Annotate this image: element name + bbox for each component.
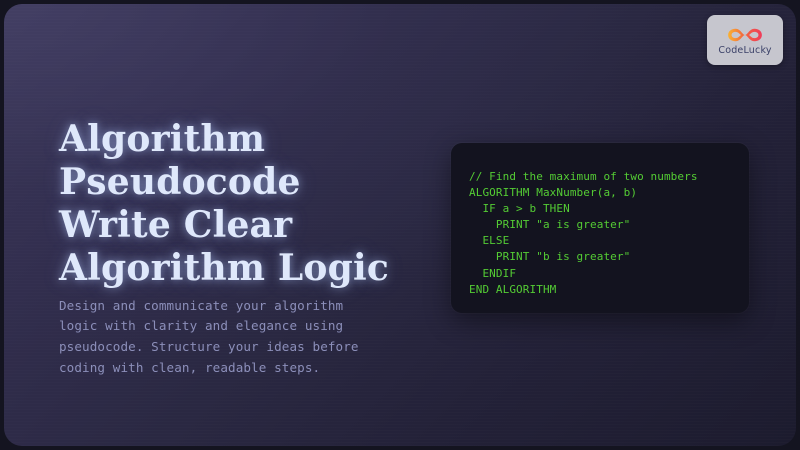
code-line: ENDIF [469,266,698,282]
brand-name: CodeLucky [718,46,771,56]
headline-line-1: Algorithm [59,118,429,161]
headline-line-2: Pseudocode [59,161,429,204]
code-line: ELSE [469,233,698,249]
headline-line-3: Write Clear [59,204,429,247]
code-line: PRINT "a is greater" [469,217,698,233]
page-title: Algorithm Pseudocode Write Clear Algorit… [59,118,429,290]
brand-logo-badge[interactable]: CodeLucky [707,15,783,65]
slide-card: CodeLucky Algorithm Pseudocode Write Cle… [4,4,796,446]
code-line: IF a > b THEN [469,201,698,217]
slide-canvas: CodeLucky Algorithm Pseudocode Write Cle… [0,0,800,450]
code-snippet-panel: // Find the maximum of two numbersALGORI… [451,143,749,313]
code-snippet-text: // Find the maximum of two numbersALGORI… [469,169,698,298]
infinity-icon [725,25,765,45]
headline-line-4: Algorithm Logic [59,247,429,290]
code-line: // Find the maximum of two numbers [469,169,698,185]
code-line: END ALGORITHM [469,282,698,298]
code-line: ALGORITHM MaxNumber(a, b) [469,185,698,201]
page-subtitle: Design and communicate your algorithm lo… [59,296,389,379]
code-line: PRINT "b is greater" [469,249,698,265]
